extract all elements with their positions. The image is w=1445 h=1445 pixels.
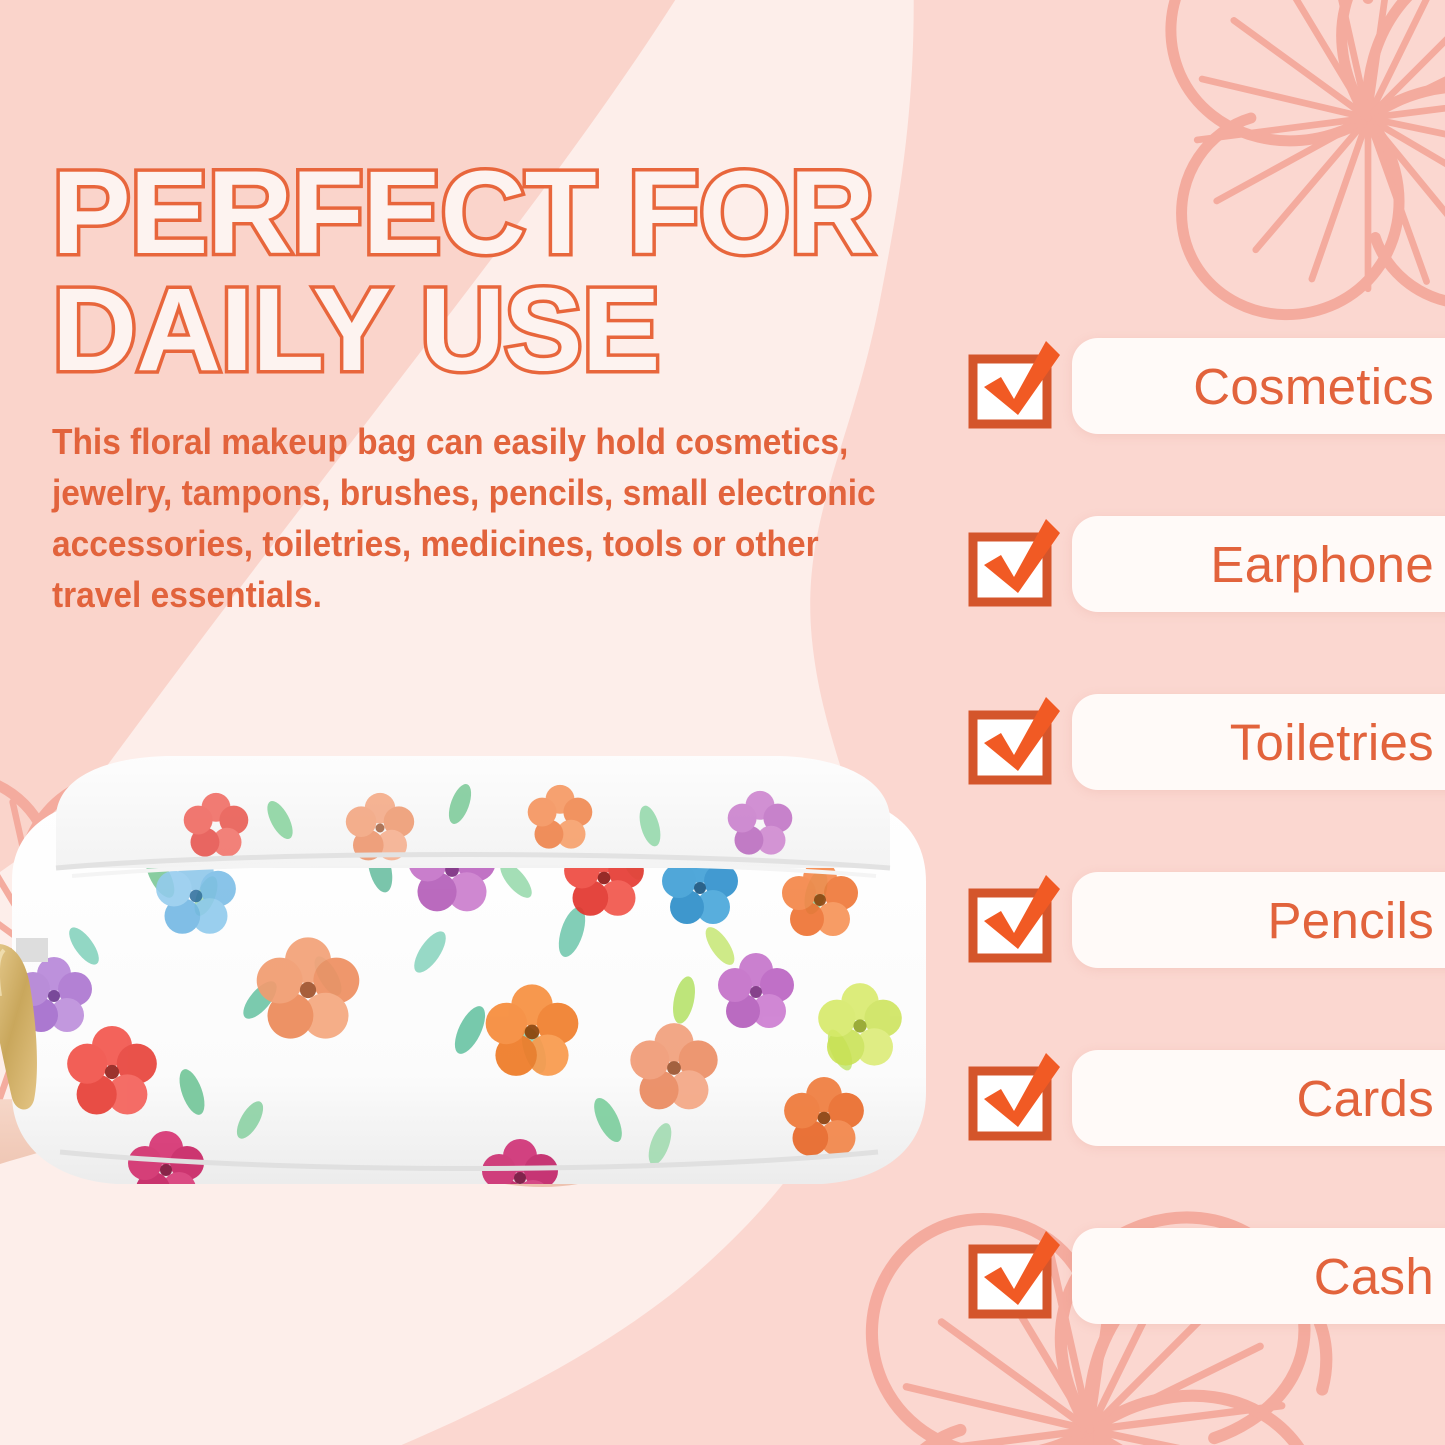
feature-checklist: Cosmetics Earphone Toiletr <box>968 336 1413 1326</box>
list-item[interactable]: Cards <box>968 1048 1413 1148</box>
list-item[interactable]: Toiletries <box>968 692 1413 792</box>
title-line-1: PERFECT FOR <box>52 155 1002 272</box>
list-item[interactable]: Cash <box>968 1226 1413 1326</box>
feature-label: Pencils <box>1267 895 1434 946</box>
feature-pill[interactable]: Cards <box>1072 1050 1445 1146</box>
feature-pill[interactable]: Cosmetics <box>1072 338 1445 434</box>
checkbox-checked-icon[interactable] <box>968 1055 1060 1141</box>
checkbox-checked-icon[interactable] <box>968 877 1060 963</box>
makeup-bag <box>0 756 926 1214</box>
infographic-canvas: PERFECT FORDAILY USE This floral makeup … <box>0 0 1445 1445</box>
feature-label: Cards <box>1296 1073 1434 1124</box>
feature-pill[interactable]: Toiletries <box>1072 694 1445 790</box>
feature-label: Earphone <box>1210 539 1434 590</box>
list-item[interactable]: Pencils <box>968 870 1413 970</box>
page-title: PERFECT FORDAILY USE <box>52 155 1002 389</box>
description-paragraph: This floral makeup bag can easily hold c… <box>52 416 894 620</box>
feature-pill[interactable]: Pencils <box>1072 872 1445 968</box>
checkbox-checked-icon[interactable] <box>968 343 1060 429</box>
list-item[interactable]: Cosmetics <box>968 336 1413 436</box>
feature-label: Toiletries <box>1230 717 1434 768</box>
feature-pill[interactable]: Cash <box>1072 1228 1445 1324</box>
checkbox-checked-icon[interactable] <box>968 699 1060 785</box>
list-item[interactable]: Earphone <box>968 514 1413 614</box>
checkbox-checked-icon[interactable] <box>968 521 1060 607</box>
feature-label: Cosmetics <box>1193 361 1434 412</box>
feature-label: Cash <box>1314 1251 1434 1302</box>
feature-pill[interactable]: Earphone <box>1072 516 1445 612</box>
checkbox-checked-icon[interactable] <box>968 1233 1060 1319</box>
title-line-2: DAILY USE <box>52 272 1002 389</box>
product-image <box>0 700 970 1445</box>
